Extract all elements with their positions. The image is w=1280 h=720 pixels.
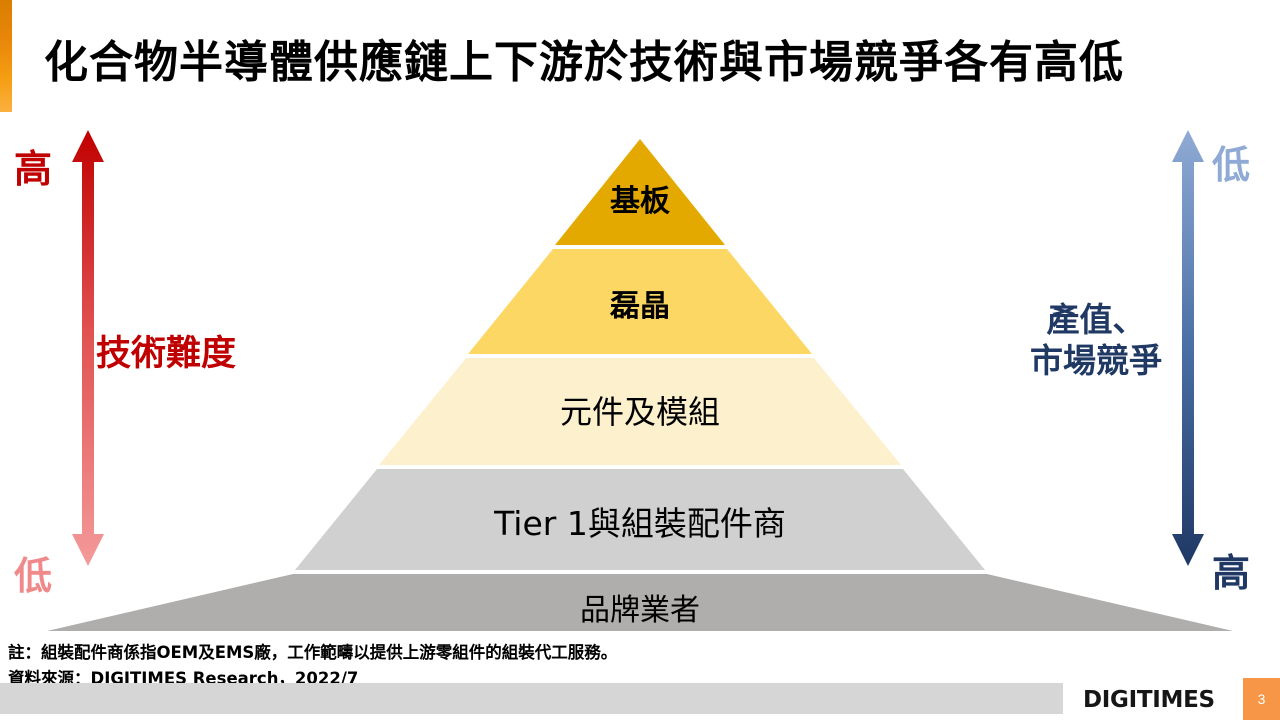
right-axis-top-label: 低 — [1212, 134, 1250, 189]
right-axis-title-line1: 產值、 — [1008, 300, 1184, 341]
digitimes-logo: DIGITIMES — [1083, 687, 1215, 713]
left-axis-top-label: 高 — [14, 138, 52, 193]
pyramid-layer-2[interactable] — [468, 249, 812, 354]
pyramid-layer-1[interactable] — [555, 139, 725, 245]
pyramid-layer-3[interactable] — [379, 358, 901, 465]
right-axis-title-line2: 市場競爭 — [1008, 341, 1184, 382]
right-axis-title: 產值、 市場競爭 — [1008, 300, 1184, 382]
page-number-badge: 3 — [1243, 678, 1280, 720]
right-axis-bottom-label: 高 — [1212, 542, 1250, 597]
slide-canvas: 化合物半導體供應鏈上下游於技術與市場競爭各有高低 基板 磊晶 元件及模組 Tie… — [0, 0, 1280, 720]
pyramid-layer-5[interactable] — [47, 574, 1233, 631]
left-axis-title: 技術難度 — [96, 325, 236, 376]
left-axis-bottom-label: 低 — [14, 545, 52, 600]
footer-bar — [0, 683, 1063, 714]
pyramid-layer-4[interactable] — [295, 469, 985, 570]
footnote-note: 註：組裝配件商係指OEM及EMS廠，工作範疇以提供上游零組件的組裝代工服務。 — [8, 639, 617, 663]
